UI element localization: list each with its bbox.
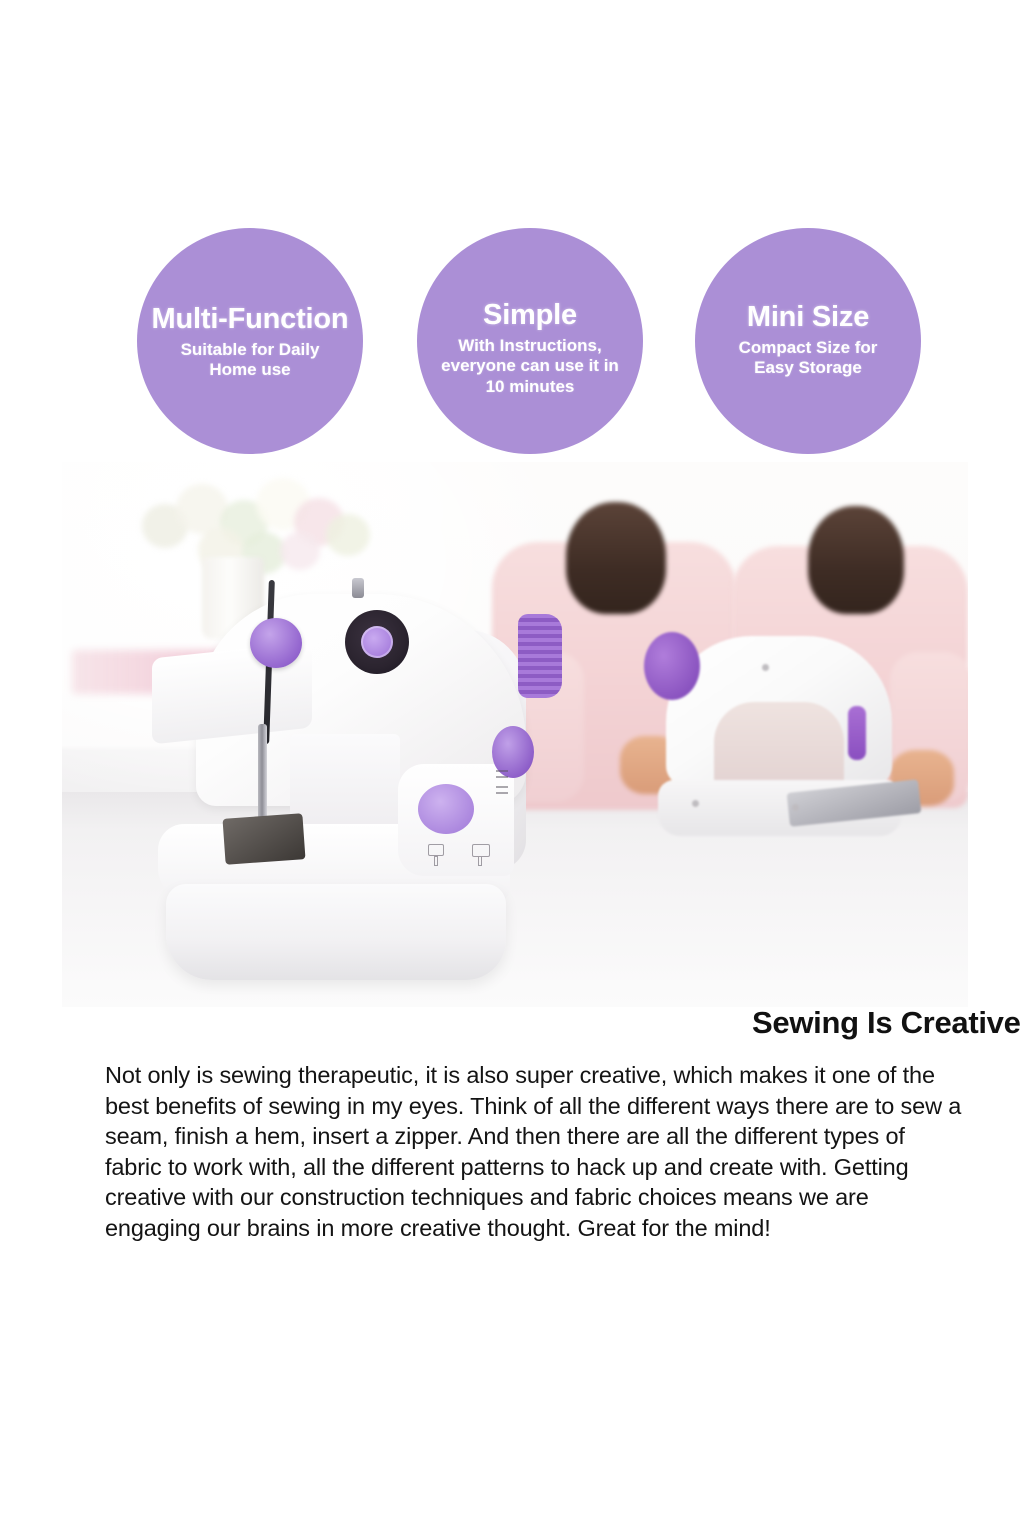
- article-paragraph: Not only is sewing therapeutic, it is al…: [105, 1060, 967, 1243]
- machine-base: [166, 884, 506, 980]
- product-photo: [62, 462, 968, 1007]
- machine-rear-lever: [848, 706, 866, 760]
- handwheel: [518, 614, 562, 698]
- feature-subtitle: Compact Size forEasy Storage: [739, 338, 878, 378]
- feature-circle-mini-size: Mini Size Compact Size forEasy Storage: [695, 228, 921, 454]
- machine-rear-arch: [714, 702, 844, 786]
- sewing-machine-rear: [652, 610, 920, 850]
- machine-rear-knob: [644, 632, 700, 700]
- feature-circle-simple: Simple With Instructions,everyone can us…: [417, 228, 643, 454]
- feature-title: Multi-Function: [152, 304, 349, 334]
- feature-circles: Multi-Function Suitable for DailyHome us…: [0, 228, 1024, 454]
- stitch-selector-dial: [345, 610, 409, 674]
- sewing-machine-front: [140, 574, 570, 994]
- feature-title: Mini Size: [747, 302, 869, 332]
- spool-pin: [352, 578, 364, 598]
- thread-spool: [250, 618, 302, 668]
- needle-bar: [258, 724, 267, 830]
- photo-background: [62, 462, 968, 1007]
- presser-foot-fabric: [222, 813, 305, 864]
- feature-subtitle: Suitable for DailyHome use: [181, 340, 320, 380]
- feature-title: Simple: [483, 300, 577, 330]
- power-button: [418, 784, 474, 834]
- panel-marks: [496, 770, 514, 804]
- page-title: Sewing Is Creative: [752, 1005, 1021, 1041]
- panel-icons: [426, 842, 498, 864]
- feature-circle-multi-function: Multi-Function Suitable for DailyHome us…: [137, 228, 363, 454]
- feature-subtitle: With Instructions,everyone can use it in…: [441, 336, 619, 396]
